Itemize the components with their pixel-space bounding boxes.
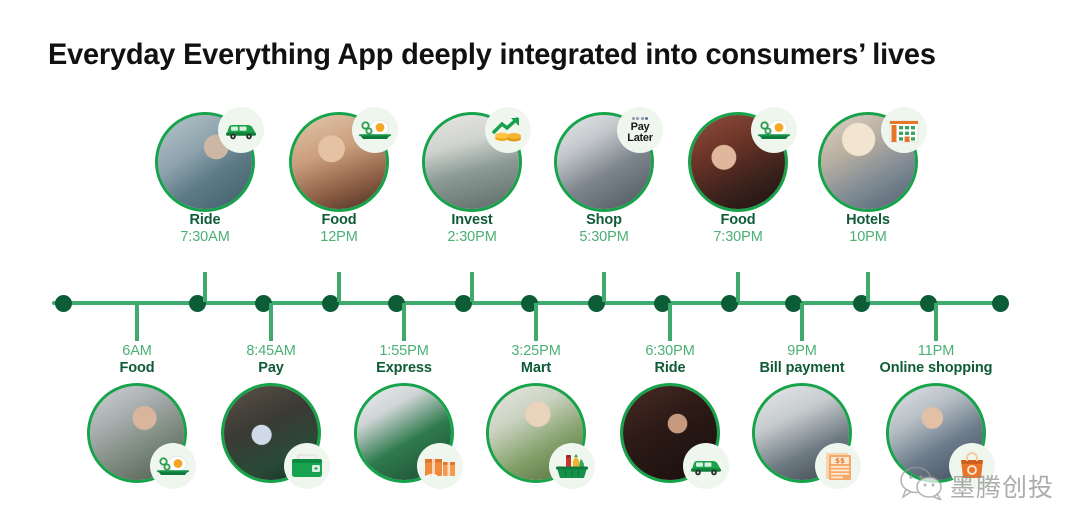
timeline-stem-up [203,272,207,302]
photo-circle[interactable] [221,383,321,483]
node-label: Bill payment [727,360,877,377]
node-label: Food [663,212,813,229]
timeline-stem-down [534,303,538,341]
timeline-node-bottom[interactable]: 6AM Food [62,343,212,483]
timeline-stem-down [402,303,406,341]
grocery-basket-icon [549,443,595,489]
node-label: Food [62,360,212,377]
node-time: 8:45AM [196,343,346,360]
page-title: Everyday Everything App deeply integrate… [48,38,936,72]
photo-circle[interactable]: $$ [752,383,852,483]
invoice-icon: $$ [815,443,861,489]
node-label: Ride [130,212,280,229]
timeline-stem-up [866,272,870,302]
timeline-stem-down [135,303,139,341]
watermark: 墨腾创投 [900,466,1054,505]
node-time: 12PM [264,229,414,246]
node-time: 3:25PM [461,343,611,360]
node-label: Mart [461,360,611,377]
timeline-node-bottom[interactable]: 1:55PM Express [329,343,479,483]
slide-canvas: Everyday Everything App deeply integrate… [0,0,1080,526]
timeline-dot [992,295,1009,312]
timeline-stem-down [668,303,672,341]
node-label: Ride [595,360,745,377]
timeline-node-top[interactable]: PayLater Shop 5:30PM [529,112,679,246]
timeline-stem-down [800,303,804,341]
timeline-node-bottom[interactable]: 6:30PM Ride [595,343,745,483]
timeline-stem-up [736,272,740,302]
node-time: 1:55PM [329,343,479,360]
parcel-box-icon [417,443,463,489]
node-time: 5:30PM [529,229,679,246]
node-time: 9PM [727,343,877,360]
timeline-node-bottom[interactable]: 8:45AM Pay [196,343,346,483]
car-icon [218,107,264,153]
egg-plate-icon [751,107,797,153]
timeline-stem-down [269,303,273,341]
node-time: 2:30PM [397,229,547,246]
svg-text:$$: $$ [835,457,845,465]
photo-circle[interactable]: PayLater [554,112,654,212]
hotel-icon [881,107,927,153]
photo-circle[interactable] [422,112,522,212]
node-time: 10PM [793,229,943,246]
node-label: Shop [529,212,679,229]
node-time: 6:30PM [595,343,745,360]
node-time: 11PM [861,343,1011,360]
photo-circle[interactable] [818,112,918,212]
timeline-node-bottom[interactable]: 3:25PM Mart [461,343,611,483]
car-icon [683,443,729,489]
photo-circle[interactable] [688,112,788,212]
timeline-node-top[interactable]: Ride 7:30AM [130,112,280,246]
timeline-stem-up [602,272,606,302]
timeline-node-top[interactable]: Food 7:30PM [663,112,813,246]
growth-coins-icon [485,107,531,153]
wechat-icon [900,466,944,505]
node-label: Online shopping [861,360,1011,377]
node-time: 6AM [62,343,212,360]
timeline-node-bottom[interactable]: 9PM Bill payment $$ [727,343,877,483]
node-time: 7:30AM [130,229,280,246]
timeline-node-top[interactable]: Hotels 10PM [793,112,943,246]
node-label: Food [264,212,414,229]
node-label: Pay [196,360,346,377]
photo-circle[interactable] [620,383,720,483]
egg-plate-icon [352,107,398,153]
photo-circle[interactable] [289,112,389,212]
node-label: Invest [397,212,547,229]
timeline-stem-up [470,272,474,302]
node-label: Hotels [793,212,943,229]
timeline-stem-up [337,272,341,302]
photo-circle[interactable] [87,383,187,483]
watermark-text: 墨腾创投 [950,468,1054,504]
timeline-stem-down [934,303,938,341]
timeline-node-top[interactable]: Invest 2:30PM [397,112,547,246]
photo-circle[interactable] [354,383,454,483]
photo-circle[interactable] [486,383,586,483]
node-time: 7:30PM [663,229,813,246]
node-label: Express [329,360,479,377]
pay-later-icon: PayLater [617,107,663,153]
timeline-dot [55,295,72,312]
timeline-node-bottom[interactable]: 11PM Online shopping [861,343,1011,483]
wallet-icon [284,443,330,489]
photo-circle[interactable] [155,112,255,212]
egg-plate-icon [150,443,196,489]
timeline-node-top[interactable]: Food 12PM [264,112,414,246]
